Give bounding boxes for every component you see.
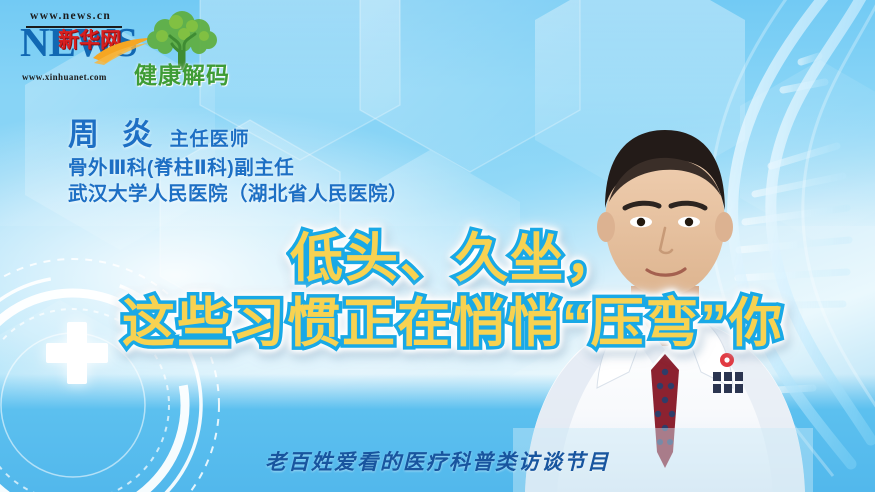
title-line-1: 低头、久坐， bbox=[0, 228, 875, 289]
doctor-name-row: 周 炎 主任医师 bbox=[68, 118, 408, 152]
doctor-info: 周 炎 主任医师 骨外Ⅲ科(脊柱Ⅱ科)副主任 武汉大学人民医院（湖北省人民医院） bbox=[68, 118, 408, 208]
main-title: 低头、久坐， 这些习惯正在悄悄“压弯”你 bbox=[0, 228, 875, 355]
xinhua-url-bottom: www.xinhuanet.com bbox=[22, 72, 107, 82]
poster-canvas: www.news.cn NEWS 新华网 www.xinhuanet.com bbox=[0, 0, 875, 492]
program-name: 健康解码 bbox=[112, 56, 252, 90]
doctor-hospital: 武汉大学人民医院（湖北省人民医院） bbox=[68, 181, 408, 207]
title-line-2: 这些习惯正在悄悄“压弯”你 bbox=[0, 293, 875, 354]
doctor-department: 骨外Ⅲ科(脊柱Ⅱ科)副主任 bbox=[68, 155, 408, 181]
tagline: 老百姓爱看的医疗科普类访谈节目 bbox=[0, 446, 875, 476]
program-logo[interactable]: 健康解码 bbox=[112, 8, 252, 90]
doctor-name: 周 炎 bbox=[68, 118, 160, 152]
doctor-rank: 主任医师 bbox=[170, 124, 250, 151]
